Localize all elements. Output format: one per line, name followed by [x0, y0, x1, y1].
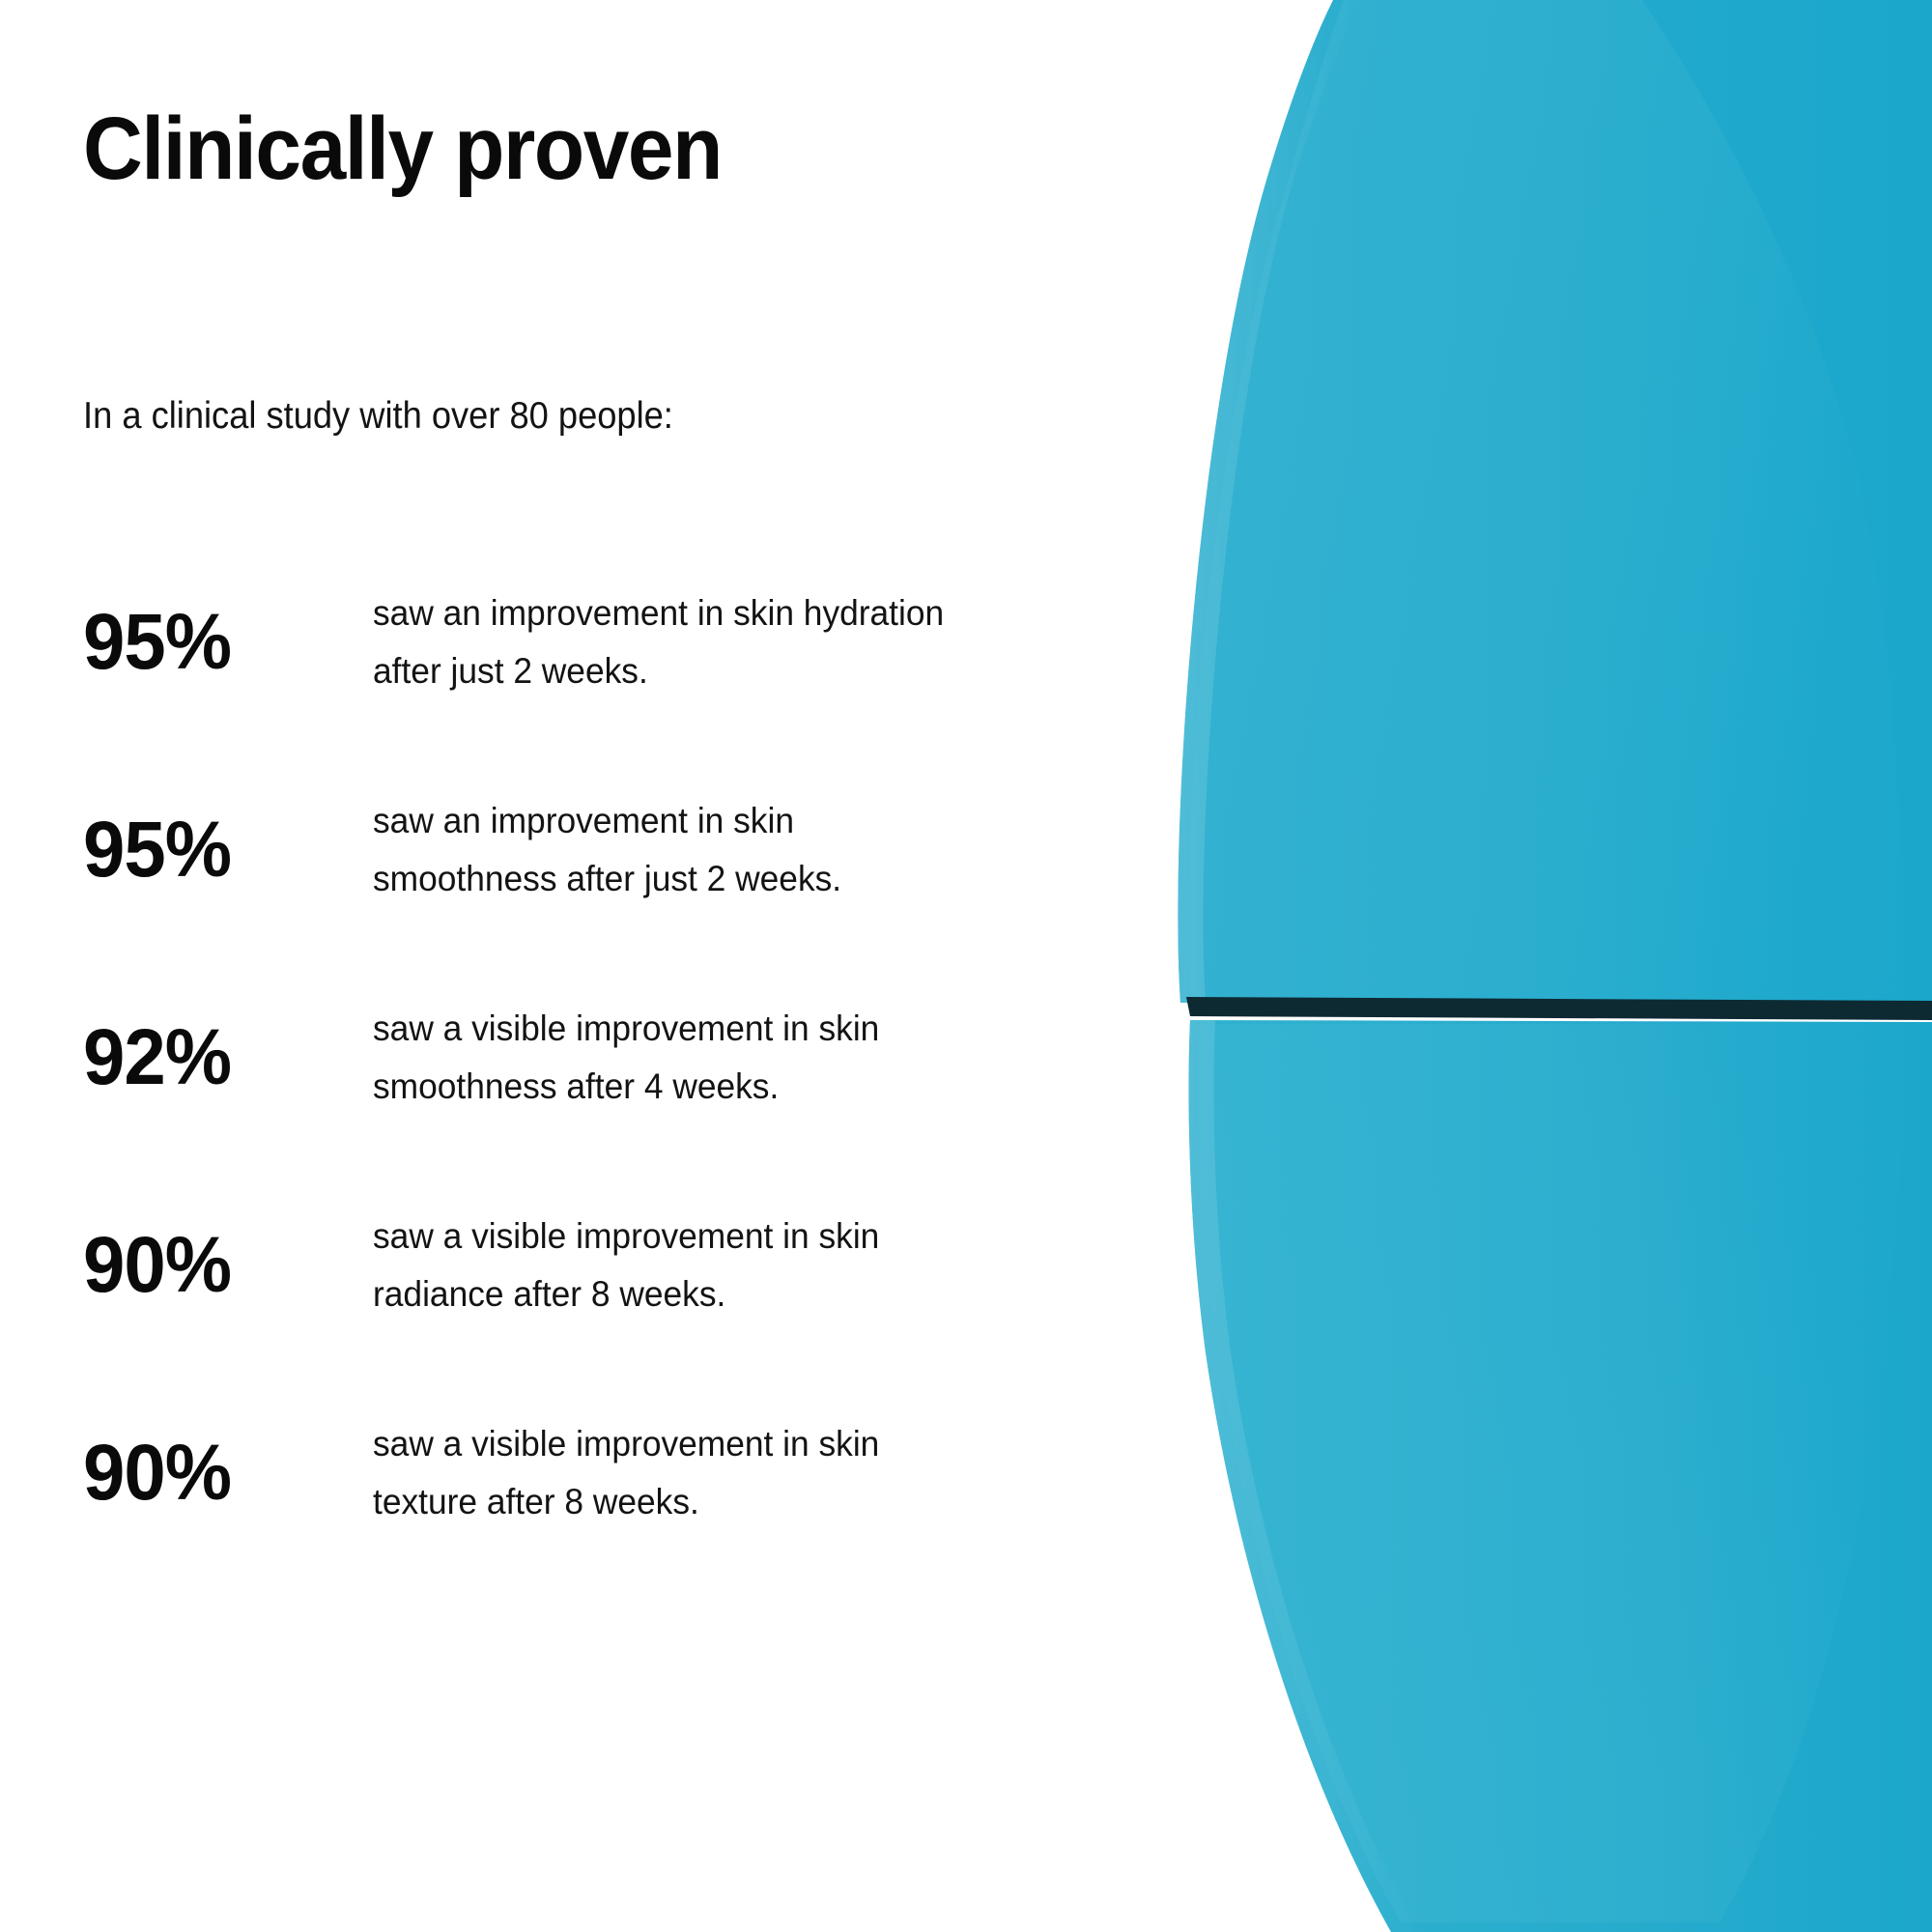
stat-value: 95%	[83, 603, 358, 682]
cap-body-seam	[1186, 997, 1932, 1020]
stat-row: 90% saw a visible improvement in skin te…	[83, 1391, 991, 1555]
stats-list: 95% saw an improvement in skin hydration…	[83, 560, 991, 1555]
stat-value: 95%	[83, 810, 358, 890]
stat-row: 90% saw a visible improvement in skin ra…	[83, 1183, 991, 1348]
stat-value: 90%	[83, 1226, 358, 1305]
stat-description: saw an improvement in skin smoothness af…	[373, 792, 963, 908]
stat-row: 95% saw an improvement in skin smoothnes…	[83, 768, 991, 932]
stat-description: saw a visible improvement in skin radian…	[373, 1207, 963, 1323]
stat-description: saw an improvement in skin hydration aft…	[373, 584, 963, 700]
stat-row: 95% saw an improvement in skin hydration…	[83, 560, 991, 724]
stat-row: 92% saw a visible improvement in skin sm…	[83, 976, 991, 1140]
page-title: Clinically proven	[83, 104, 722, 193]
stat-description: saw a visible improvement in skin smooth…	[373, 1000, 963, 1116]
stat-description: saw a visible improvement in skin textur…	[373, 1415, 963, 1531]
text-column: Clinically proven In a clinical study wi…	[0, 0, 1024, 1932]
clinically-proven-slide: MEDIK Clinically proven In a clinical st…	[0, 0, 1932, 1932]
stat-value: 90%	[83, 1434, 358, 1513]
stat-value: 92%	[83, 1018, 358, 1097]
study-note: In a clinical study with over 80 people:	[83, 394, 673, 440]
